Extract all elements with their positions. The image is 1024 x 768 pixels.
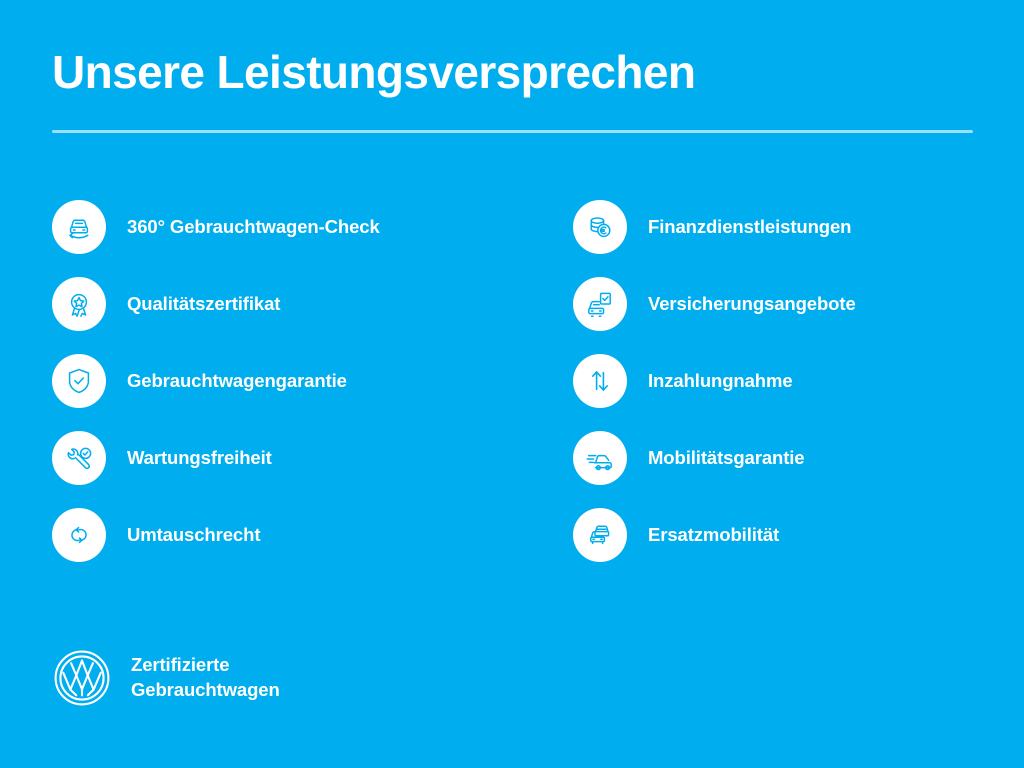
volkswagen-logo-icon bbox=[52, 648, 112, 708]
feature-label: Qualitätszertifikat bbox=[127, 295, 280, 314]
feature-item-finanzdienstleistungen[interactable]: Finanzdienstleistungen bbox=[573, 200, 973, 254]
feature-label: Inzahlungnahme bbox=[648, 372, 793, 391]
feature-label: Mobilitätsgarantie bbox=[648, 449, 805, 468]
car-360-check-icon bbox=[52, 200, 106, 254]
coins-euro-icon bbox=[573, 200, 627, 254]
feature-item-versicherungsangebote[interactable]: Versicherungsangebote bbox=[573, 277, 973, 331]
quality-rosette-icon bbox=[52, 277, 106, 331]
feature-item-mobilitaetsgarantie[interactable]: Mobilitätsgarantie bbox=[573, 431, 973, 485]
feature-item-wartungsfreiheit[interactable]: Wartungsfreiheit bbox=[52, 431, 573, 485]
brand-line-1: Zertifizierte bbox=[131, 653, 280, 678]
feature-label: Gebrauchtwagengarantie bbox=[127, 372, 347, 391]
feature-item-qualitaetszertifikat[interactable]: Qualitätszertifikat bbox=[52, 277, 573, 331]
feature-item-ersatzmobilitaet[interactable]: Ersatzmobilität bbox=[573, 508, 973, 562]
feature-column-right: Finanzdienstleistungen Versicherungsange… bbox=[573, 200, 973, 562]
feature-columns: 360° Gebrauchtwagen-Check Qualitätszerti… bbox=[52, 200, 973, 562]
feature-label: Wartungsfreiheit bbox=[127, 449, 272, 468]
feature-item-gebrauchtwagengarantie[interactable]: Gebrauchtwagengarantie bbox=[52, 354, 573, 408]
promise-panel: Unsere Leistungsversprechen 360° Gebrauc bbox=[0, 0, 1024, 768]
wrench-check-icon bbox=[52, 431, 106, 485]
feature-item-umtauschrecht[interactable]: Umtauschrecht bbox=[52, 508, 573, 562]
brand-footer: Zertifizierte Gebrauchtwagen bbox=[52, 648, 280, 708]
exchange-arrows-icon bbox=[52, 508, 106, 562]
feature-column-left: 360° Gebrauchtwagen-Check Qualitätszerti… bbox=[52, 200, 573, 562]
shield-check-icon bbox=[52, 354, 106, 408]
car-document-check-icon bbox=[573, 277, 627, 331]
feature-label: Ersatzmobilität bbox=[648, 526, 779, 545]
feature-item-gebrauchtwagen-check[interactable]: 360° Gebrauchtwagen-Check bbox=[52, 200, 573, 254]
feature-label: Finanzdienstleistungen bbox=[648, 218, 851, 237]
car-motion-icon bbox=[573, 431, 627, 485]
header: Unsere Leistungsversprechen bbox=[52, 48, 973, 133]
brand-line-2: Gebrauchtwagen bbox=[131, 678, 280, 703]
feature-item-inzahlungnahme[interactable]: Inzahlungnahme bbox=[573, 354, 973, 408]
two-cars-icon bbox=[573, 508, 627, 562]
feature-label: Umtauschrecht bbox=[127, 526, 260, 545]
feature-label: 360° Gebrauchtwagen-Check bbox=[127, 218, 380, 237]
feature-label: Versicherungsangebote bbox=[648, 295, 856, 314]
title-divider bbox=[52, 130, 973, 133]
arrows-up-down-icon bbox=[573, 354, 627, 408]
page-title: Unsere Leistungsversprechen bbox=[52, 48, 973, 96]
brand-text: Zertifizierte Gebrauchtwagen bbox=[131, 653, 280, 702]
